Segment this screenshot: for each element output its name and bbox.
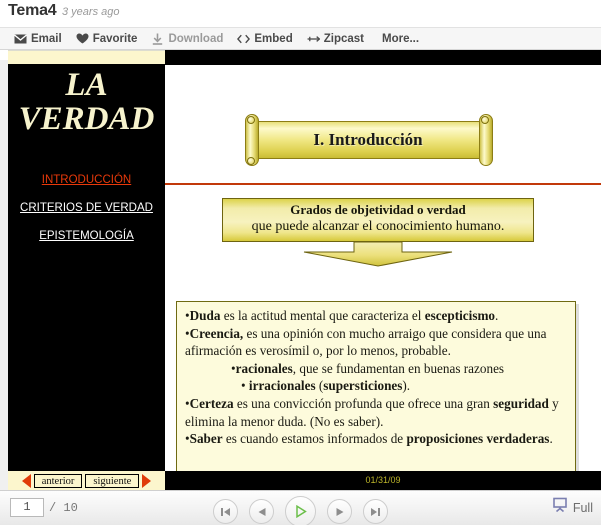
envelope-icon bbox=[14, 32, 27, 45]
more-label: More... bbox=[382, 33, 419, 45]
email-button[interactable]: Email bbox=[14, 28, 62, 50]
page-header: Tema4 3 years ago bbox=[0, 0, 601, 27]
download-button[interactable]: Download bbox=[151, 28, 223, 50]
player-controls bbox=[0, 496, 601, 525]
slide-divider-rule bbox=[165, 183, 601, 185]
next-slide-button[interactable] bbox=[327, 499, 352, 524]
banner-knob-top-right bbox=[481, 116, 489, 124]
banner-body: I. Introducción bbox=[252, 121, 484, 159]
slide-footer: 01/31/09 bbox=[165, 471, 601, 490]
page-title: Tema4 bbox=[8, 2, 57, 20]
bullet-certeza: •Certeza es una convicción profunda que … bbox=[185, 395, 567, 430]
sidebar-title-line2: VERDAD bbox=[8, 102, 165, 136]
bullet-duda: •Duda es la actitud mental que caracteri… bbox=[185, 307, 567, 325]
zipcast-button[interactable]: Zipcast bbox=[307, 28, 364, 50]
email-label: Email bbox=[31, 33, 62, 45]
bullet-saber: •Saber es cuando estamos informados de p… bbox=[185, 430, 567, 448]
sidebar-title-line1: LA bbox=[8, 68, 165, 102]
bullet-racionales: •racionales, que se fundamentan en buena… bbox=[185, 360, 567, 378]
slide-prev-button[interactable]: anterior bbox=[34, 474, 83, 488]
heart-icon bbox=[76, 32, 89, 45]
sidebar-top-strip bbox=[8, 50, 165, 64]
slide-internal-nav: anterior siguiente bbox=[8, 471, 165, 490]
slide-title-banner: I. Introducción bbox=[243, 114, 493, 166]
action-toolbar: Email Favorite Download bbox=[0, 27, 601, 50]
sidebar-item-introduccion[interactable]: INTRODUCCIÓN bbox=[8, 174, 165, 186]
bullet-irracionales: • irracionales (supersticiones). bbox=[185, 377, 567, 395]
fullscreen-label: Full bbox=[573, 501, 593, 515]
presentation-screen-icon bbox=[552, 497, 568, 518]
slide-prev-arrow-icon[interactable] bbox=[22, 474, 31, 488]
sidebar-item-criterios-de-verdad[interactable]: CRITERIOS DE VERDAD bbox=[8, 202, 165, 214]
play-button[interactable] bbox=[285, 496, 316, 525]
player-bar: 1 / 10 bbox=[0, 490, 601, 525]
slide-sidebar-title: LA VERDAD bbox=[8, 68, 165, 136]
play-icon bbox=[294, 505, 307, 518]
statement-box: Grados de objetividad o verdad que puede… bbox=[222, 198, 534, 242]
viewer-left-gutter-top bbox=[0, 50, 8, 60]
slide-top-band bbox=[165, 50, 601, 65]
previous-slide-button[interactable] bbox=[249, 499, 274, 524]
code-brackets-icon bbox=[237, 32, 250, 45]
zipcast-label: Zipcast bbox=[324, 33, 364, 45]
down-arrow-shape bbox=[300, 242, 456, 267]
sidebar-item-epistemologia[interactable]: EPISTEMOLOGÍA bbox=[8, 230, 165, 242]
embed-label: Embed bbox=[254, 33, 292, 45]
download-label: Download bbox=[168, 33, 223, 45]
download-icon bbox=[151, 32, 164, 45]
fullscreen-button[interactable]: Full bbox=[552, 497, 593, 518]
statement-line-2: que puede alcanzar el conocimiento human… bbox=[223, 219, 533, 235]
upload-age: 3 years ago bbox=[62, 6, 119, 18]
next-icon bbox=[335, 507, 345, 517]
banner-knob-bottom-left bbox=[247, 157, 255, 165]
more-button[interactable]: More... bbox=[382, 28, 419, 50]
bullet-creencia: •Creencia, es una opinión con mucho arra… bbox=[185, 325, 567, 360]
slide-viewer[interactable]: LA VERDAD INTRODUCCIÓN CRITERIOS DE VERD… bbox=[0, 50, 601, 490]
slide-content-box: •Duda es la actitud mental que caracteri… bbox=[176, 301, 576, 472]
skip-to-start-button[interactable] bbox=[213, 499, 238, 524]
slide-footer-date: 01/31/09 bbox=[165, 475, 601, 485]
viewer-left-gutter bbox=[0, 50, 8, 490]
banner-title-text: I. Introducción bbox=[253, 130, 483, 150]
favorite-button[interactable]: Favorite bbox=[76, 28, 138, 50]
slideshare-viewer-page: Tema4 3 years ago Email Favorite bbox=[0, 0, 601, 525]
slide-sidebar: LA VERDAD INTRODUCCIÓN CRITERIOS DE VERD… bbox=[8, 64, 165, 525]
slide-next-button[interactable]: siguiente bbox=[85, 474, 139, 488]
banner-knob-top-left bbox=[247, 116, 255, 124]
zipcast-icon bbox=[307, 32, 320, 45]
statement-line-1: Grados de objetividad o verdad bbox=[223, 202, 533, 218]
slide-next-arrow-icon[interactable] bbox=[142, 474, 151, 488]
slide-sidebar-nav: INTRODUCCIÓN CRITERIOS DE VERDAD EPISTEM… bbox=[8, 174, 165, 258]
embed-button[interactable]: Embed bbox=[237, 28, 292, 50]
previous-icon bbox=[257, 507, 267, 517]
skip-to-end-button[interactable] bbox=[363, 499, 388, 524]
favorite-label: Favorite bbox=[93, 33, 138, 45]
skip-start-icon bbox=[220, 507, 231, 517]
skip-end-icon bbox=[370, 507, 381, 517]
